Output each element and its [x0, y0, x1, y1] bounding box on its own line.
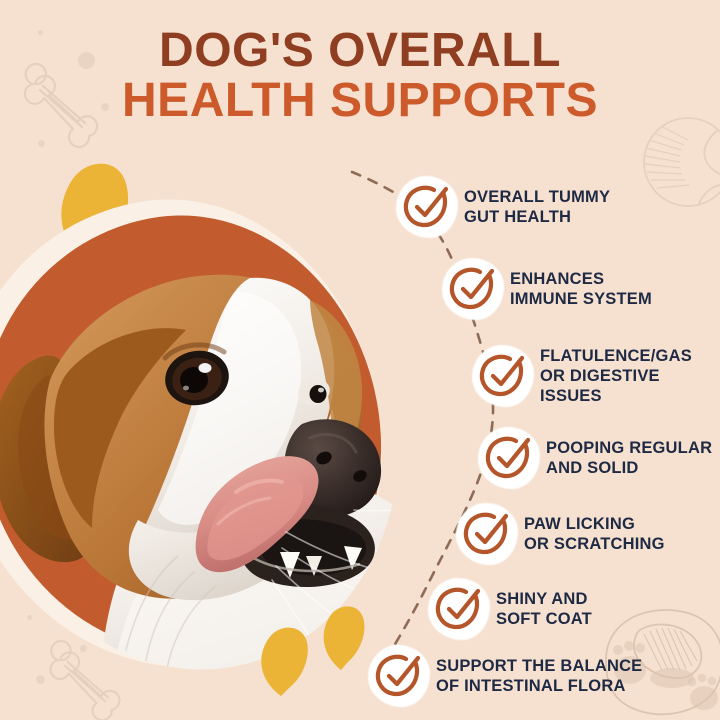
poster-canvas: DOG'S OVERALL HEALTH SUPPORTS — [0, 0, 720, 720]
benefit-label: FLATULENCE/GAS OR DIGESTIVE ISSUES — [540, 346, 720, 406]
check-circle-icon — [396, 176, 458, 238]
benefit-label: PAW LICKING OR SCRATCHING — [524, 514, 665, 554]
page-title: DOG'S OVERALL HEALTH SUPPORTS — [0, 26, 720, 126]
check-circle-icon — [456, 503, 518, 565]
benefit-item-paw-licking-or-scratching[interactable]: PAW LICKING OR SCRATCHING — [456, 503, 665, 565]
benefit-item-enhances-immune-system[interactable]: ENHANCES IMMUNE SYSTEM — [442, 258, 652, 320]
benefit-item-flatulence-gas[interactable]: FLATULENCE/GAS OR DIGESTIVE ISSUES — [472, 345, 720, 407]
check-circle-icon — [428, 578, 490, 640]
benefit-item-pooping-regular-and-solid[interactable]: POOPING REGULAR AND SOLID — [478, 427, 712, 489]
check-circle-icon — [472, 345, 534, 407]
benefit-label: SHINY AND SOFT COAT — [496, 589, 592, 629]
check-circle-icon — [478, 427, 540, 489]
benefit-label: OVERALL TUMMY GUT HEALTH — [464, 187, 610, 227]
benefit-label: POOPING REGULAR AND SOLID — [546, 438, 712, 478]
check-circle-icon — [368, 645, 430, 707]
benefit-item-support-intestinal-flora[interactable]: SUPPORT THE BALANCE OF INTESTINAL FLORA — [368, 645, 642, 707]
benefit-label: ENHANCES IMMUNE SYSTEM — [510, 269, 652, 309]
benefit-item-overall-tummy-gut-health[interactable]: OVERALL TUMMY GUT HEALTH — [396, 176, 610, 238]
benefit-label: SUPPORT THE BALANCE OF INTESTINAL FLORA — [436, 656, 642, 696]
check-circle-icon — [442, 258, 504, 320]
title-line-2: HEALTH SUPPORTS — [0, 76, 720, 126]
title-line-1: DOG'S OVERALL — [0, 26, 720, 76]
benefit-item-shiny-and-soft-coat[interactable]: SHINY AND SOFT COAT — [428, 578, 592, 640]
